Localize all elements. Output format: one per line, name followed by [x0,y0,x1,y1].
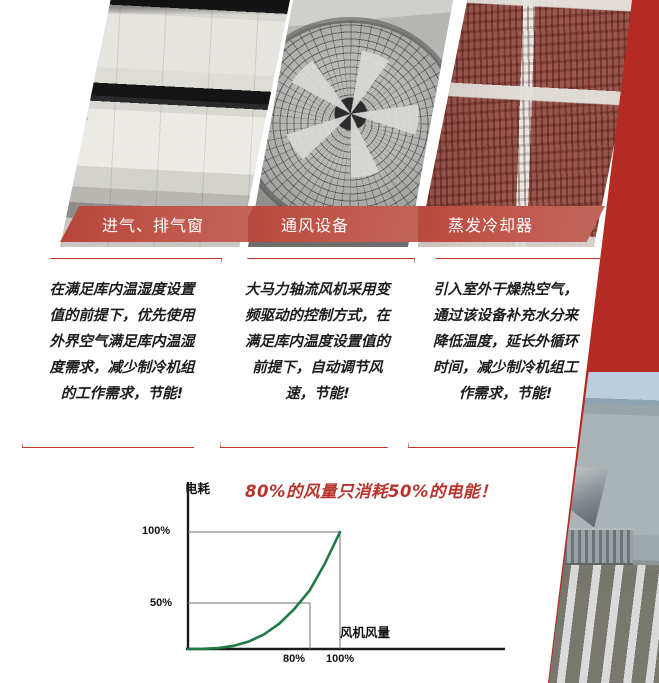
callout-inner: 大马力轴流风机采用变频驱动的控制方式，在满足库内温度设置值的前提下，自动调节风速… [221,259,414,447]
chart-plot-area [140,470,550,680]
caption-bar-ventilation-equipment: 通风设备 [248,206,436,242]
callout-text: 在满足库内温湿度设置值的前提下，优先使用外界空气满足库内温湿度需求，减少制冷机组… [47,277,197,407]
callout-row: 在满足库内温湿度设置值的前提下，优先使用外界空气满足库内温湿度需求，减少制冷机组… [0,258,659,458]
chart-series-curve [188,532,340,649]
building-vent-unit [564,528,632,565]
slide-page: 进气、排气窗 通风设备 蒸发冷却器 [0,0,659,683]
callout-intake: 在满足库内温湿度设置值的前提下，优先使用外界空气满足库内温湿度需求，减少制冷机组… [22,258,222,448]
energy-consumption-chart: 80%的风量只消耗50%的电能！ 电耗 风机风量 100% 50% 80% 10… [140,470,550,680]
caption-label: 进气、排气窗 [102,212,204,236]
callout-inner: 在满足库内温湿度设置值的前提下，优先使用外界空气满足库内温湿度需求，减少制冷机组… [23,259,221,447]
callout-cooler: 引入室外干燥热空气，通过该设备补充水分来降低温度，延长外循环时间，减少制冷机组工… [408,258,603,448]
callout-fan: 大马力轴流风机采用变频驱动的控制方式，在满足库内温度设置值的前提下，自动调节风速… [220,258,415,448]
callout-inner: 引入室外干燥热空气，通过该设备补充水分来降低温度，延长外循环时间，减少制冷机组工… [409,259,602,447]
caption-label: 通风设备 [281,212,349,236]
callout-text: 大马力轴流风机采用变频驱动的控制方式，在满足库内温度设置值的前提下，自动调节风速… [243,277,393,407]
callout-text: 引入室外干燥热空气，通过该设备补充水分来降低温度，延长外循环时间，减少制冷机组工… [431,277,581,407]
caption-bar-intake-exhaust-window: 进气、排气窗 [60,206,275,242]
